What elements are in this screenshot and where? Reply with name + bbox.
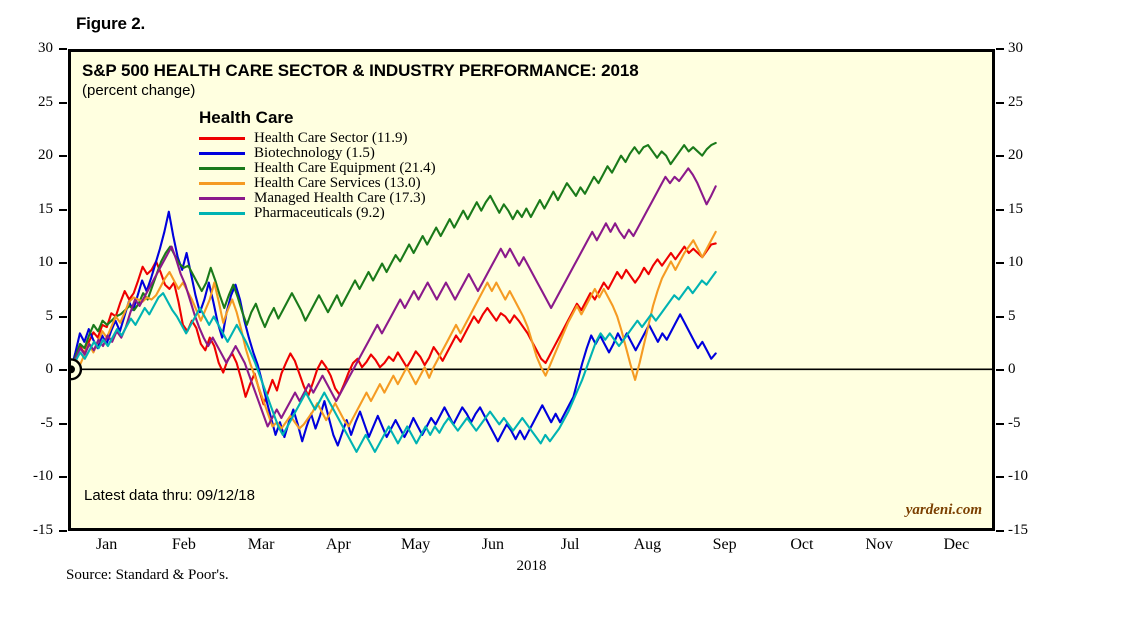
xtick-label-apr: Apr [308, 536, 368, 554]
ytick-label-right: 30 [1008, 40, 1048, 57]
ytick-mark-right [996, 262, 1004, 264]
legend-item-4: Managed Health Care (17.3) [199, 191, 436, 206]
ytick-label-right: 0 [1008, 361, 1048, 378]
ytick-mark-right [996, 209, 1004, 211]
legend-rows: Health Care Sector (11.9)Biotechnology (… [199, 131, 436, 221]
ytick-mark-left [59, 155, 67, 157]
legend-swatch-icon [199, 167, 245, 170]
legend-item-label: Managed Health Care (17.3) [254, 191, 426, 206]
legend-item-label: Health Care Services (13.0) [254, 176, 421, 191]
xtick-label-jun: Jun [463, 536, 523, 554]
legend-item-3: Health Care Services (13.0) [199, 176, 436, 191]
ytick-mark-left [59, 48, 67, 50]
xtick-label-jul: Jul [540, 536, 600, 554]
ytick-mark-right [996, 530, 1004, 532]
origin-marker [71, 359, 81, 379]
latest-data-note: Latest data thru: 09/12/18 [84, 487, 255, 504]
ytick-label-left: 0 [13, 361, 53, 378]
ytick-mark-left [59, 209, 67, 211]
xtick-label-nov: Nov [849, 536, 909, 554]
ytick-mark-right [996, 423, 1004, 425]
chart-legend: Health Care Health Care Sector (11.9)Bio… [199, 108, 436, 221]
legend-title: Health Care [199, 108, 436, 128]
legend-item-label: Health Care Equipment (21.4) [254, 161, 436, 176]
legend-swatch-icon [199, 212, 245, 215]
ytick-label-right: -15 [1008, 522, 1048, 539]
ytick-mark-left [59, 262, 67, 264]
xaxis-label: 2018 [492, 558, 572, 575]
xtick-label-mar: Mar [231, 536, 291, 554]
ytick-mark-right [996, 316, 1004, 318]
ytick-mark-left [59, 316, 67, 318]
xtick-label-oct: Oct [772, 536, 832, 554]
ytick-label-right: -10 [1008, 468, 1048, 485]
ytick-mark-right [996, 102, 1004, 104]
legend-swatch-icon [199, 152, 245, 155]
ytick-label-right: 5 [1008, 308, 1048, 325]
ytick-label-left: 10 [13, 254, 53, 271]
legend-swatch-icon [199, 137, 245, 140]
legend-swatch-icon [199, 182, 245, 185]
legend-item-label: Health Care Sector (11.9) [254, 131, 408, 146]
xtick-label-feb: Feb [154, 536, 214, 554]
source-note: Source: Standard & Poor's. [66, 567, 229, 584]
ytick-label-left: -15 [13, 522, 53, 539]
xtick-label-may: May [386, 536, 446, 554]
ytick-label-left: 15 [13, 201, 53, 218]
ytick-mark-left [59, 369, 67, 371]
legend-item-5: Pharmaceuticals (9.2) [199, 206, 436, 221]
ytick-label-left: -5 [13, 415, 53, 432]
ytick-label-left: 25 [13, 94, 53, 111]
watermark: yardeni.com [906, 502, 982, 519]
ytick-mark-left [59, 530, 67, 532]
legend-item-label: Biotechnology (1.5) [254, 146, 375, 161]
xtick-label-sep: Sep [695, 536, 755, 554]
ytick-label-left: 5 [13, 308, 53, 325]
xtick-label-dec: Dec [926, 536, 986, 554]
legend-item-1: Biotechnology (1.5) [199, 146, 436, 161]
chart-plot-area: S&P 500 HEALTH CARE SECTOR & INDUSTRY PE… [68, 49, 995, 531]
ytick-mark-right [996, 369, 1004, 371]
ytick-mark-right [996, 48, 1004, 50]
ytick-mark-right [996, 476, 1004, 478]
ytick-mark-left [59, 476, 67, 478]
legend-item-2: Health Care Equipment (21.4) [199, 161, 436, 176]
legend-item-0: Health Care Sector (11.9) [199, 131, 436, 146]
ytick-label-right: 25 [1008, 94, 1048, 111]
ytick-label-right: 20 [1008, 147, 1048, 164]
ytick-label-right: -5 [1008, 415, 1048, 432]
series-line-1 [71, 212, 716, 446]
xtick-label-jan: Jan [77, 536, 137, 554]
ytick-label-left: 30 [13, 40, 53, 57]
chart-subtitle: (percent change) [82, 82, 195, 99]
legend-item-label: Pharmaceuticals (9.2) [254, 206, 385, 221]
ytick-label-right: 15 [1008, 201, 1048, 218]
ytick-label-left: 20 [13, 147, 53, 164]
figure-label: Figure 2. [76, 14, 145, 34]
legend-swatch-icon [199, 197, 245, 200]
ytick-mark-left [59, 423, 67, 425]
ytick-label-left: -10 [13, 468, 53, 485]
ytick-mark-left [59, 102, 67, 104]
ytick-mark-right [996, 155, 1004, 157]
xtick-label-aug: Aug [617, 536, 677, 554]
chart-title: S&P 500 HEALTH CARE SECTOR & INDUSTRY PE… [82, 61, 639, 81]
ytick-label-right: 10 [1008, 254, 1048, 271]
